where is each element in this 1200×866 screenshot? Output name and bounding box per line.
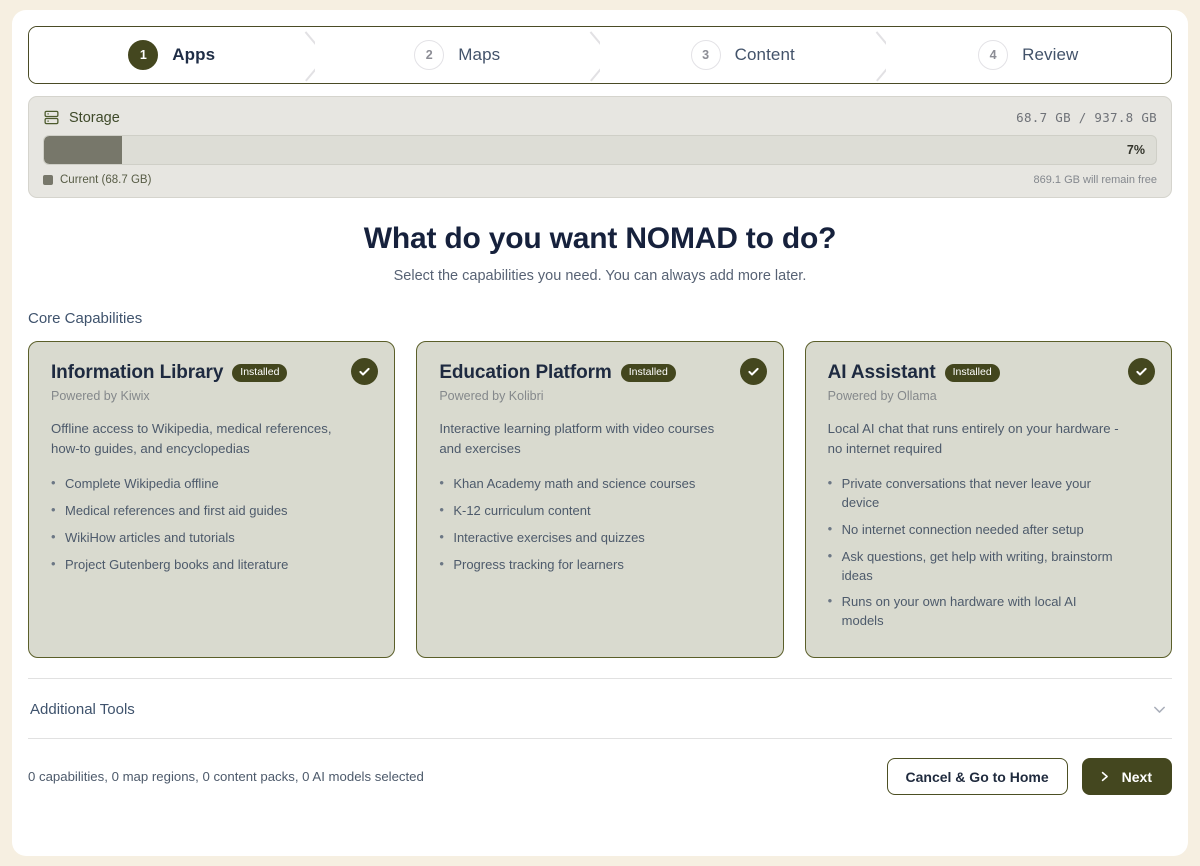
card-powered-by: Powered by Kiwix xyxy=(51,389,375,403)
drive-icon xyxy=(43,109,60,126)
step-label-1: Apps xyxy=(172,45,215,65)
list-item: K-12 curriculum content xyxy=(439,502,729,521)
storage-progress-bar: 7% xyxy=(43,135,1157,165)
storage-remaining-label: 869.1 GB will remain free xyxy=(1034,174,1158,186)
step-number-4: 4 xyxy=(978,40,1008,70)
page-title: What do you want NOMAD to do? xyxy=(28,222,1172,256)
list-item: Runs on your own hardware with local AI … xyxy=(828,593,1118,631)
card-powered-by: Powered by Kolibri xyxy=(439,389,763,403)
additional-tools-accordion[interactable]: Additional Tools xyxy=(28,678,1172,738)
step-number-2: 2 xyxy=(414,40,444,70)
card-feature-list: Complete Wikipedia offline Medical refer… xyxy=(51,475,375,574)
card-header: AI Assistant Installed xyxy=(828,362,1152,384)
stepper-step-maps[interactable]: 2 Maps xyxy=(315,27,601,83)
storage-header: Storage 68.7 GB / 937.8 GB xyxy=(43,109,1157,126)
card-description: Interactive learning platform with video… xyxy=(439,419,739,459)
step-number-1: 1 xyxy=(128,40,158,70)
card-header: Education Platform Installed xyxy=(439,362,763,384)
list-item: Progress tracking for learners xyxy=(439,556,729,575)
capability-card-information-library[interactable]: Information Library Installed Powered by… xyxy=(28,341,395,658)
list-item: Interactive exercises and quizzes xyxy=(439,529,729,548)
step-number-3: 3 xyxy=(691,40,721,70)
next-button[interactable]: Next xyxy=(1082,758,1172,795)
capability-card-ai-assistant[interactable]: AI Assistant Installed Powered by Ollama… xyxy=(805,341,1172,658)
storage-panel: Storage 68.7 GB / 937.8 GB 7% Current (6… xyxy=(28,96,1172,198)
list-item: Project Gutenberg books and literature xyxy=(51,556,341,575)
next-button-label: Next xyxy=(1122,769,1152,785)
storage-capacity: 68.7 GB / 937.8 GB xyxy=(1016,110,1157,125)
card-title: Information Library xyxy=(51,362,223,384)
list-item: WikiHow articles and tutorials xyxy=(51,529,341,548)
capability-card-grid: Information Library Installed Powered by… xyxy=(28,341,1172,658)
stepper-step-review[interactable]: 4 Review xyxy=(886,27,1172,83)
storage-legend: Current (68.7 GB) xyxy=(43,174,151,186)
capability-card-education-platform[interactable]: Education Platform Installed Powered by … xyxy=(416,341,783,658)
status-badge: Installed xyxy=(621,364,676,382)
card-description: Offline access to Wikipedia, medical ref… xyxy=(51,419,351,459)
step-label-3: Content xyxy=(735,45,795,65)
legend-label-current: Current (68.7 GB) xyxy=(60,174,151,186)
card-feature-list: Private conversations that never leave y… xyxy=(828,475,1152,631)
hero-section: What do you want NOMAD to do? Select the… xyxy=(28,222,1172,284)
storage-title-group: Storage xyxy=(43,109,120,126)
card-title: AI Assistant xyxy=(828,362,936,384)
status-badge: Installed xyxy=(945,364,1000,382)
selected-check-badge[interactable] xyxy=(1128,358,1155,385)
storage-label: Storage xyxy=(69,110,120,126)
step-label-2: Maps xyxy=(458,45,500,65)
storage-footer: Current (68.7 GB) 869.1 GB will remain f… xyxy=(43,174,1157,186)
check-icon xyxy=(1134,364,1149,379)
list-item: Medical references and first aid guides xyxy=(51,502,341,521)
step-label-4: Review xyxy=(1022,45,1078,65)
wizard-footer: 0 capabilities, 0 map regions, 0 content… xyxy=(28,738,1172,795)
list-item: Complete Wikipedia offline xyxy=(51,475,341,494)
check-icon xyxy=(357,364,372,379)
storage-progress-fill xyxy=(44,136,122,164)
footer-actions: Cancel & Go to Home Next xyxy=(887,758,1173,795)
page-subtitle: Select the capabilities you need. You ca… xyxy=(28,268,1172,284)
card-feature-list: Khan Academy math and science courses K-… xyxy=(439,475,763,574)
stepper-step-content[interactable]: 3 Content xyxy=(600,27,886,83)
legend-swatch-current xyxy=(43,175,53,185)
storage-percent-label: 7% xyxy=(1127,143,1145,157)
chevron-down-icon[interactable] xyxy=(1151,701,1168,718)
selected-check-badge[interactable] xyxy=(740,358,767,385)
check-icon xyxy=(746,364,761,379)
card-description: Local AI chat that runs entirely on your… xyxy=(828,419,1128,459)
list-item: No internet connection needed after setu… xyxy=(828,521,1118,540)
card-title: Education Platform xyxy=(439,362,611,384)
cancel-go-home-button[interactable]: Cancel & Go to Home xyxy=(887,758,1068,795)
selection-summary: 0 capabilities, 0 map regions, 0 content… xyxy=(28,769,424,784)
stepper-step-apps[interactable]: 1 Apps xyxy=(29,27,315,83)
card-header: Information Library Installed xyxy=(51,362,375,384)
chevron-right-icon xyxy=(1098,770,1111,783)
card-powered-by: Powered by Ollama xyxy=(828,389,1152,403)
status-badge: Installed xyxy=(232,364,287,382)
list-item: Private conversations that never leave y… xyxy=(828,475,1118,513)
list-item: Khan Academy math and science courses xyxy=(439,475,729,494)
wizard-stepper: 1 Apps 2 Maps 3 Content 4 Review xyxy=(28,26,1172,84)
additional-tools-label: Additional Tools xyxy=(30,701,135,718)
list-item: Ask questions, get help with writing, br… xyxy=(828,548,1118,586)
core-capabilities-heading: Core Capabilities xyxy=(28,310,1172,327)
wizard-window: 1 Apps 2 Maps 3 Content 4 Review xyxy=(12,10,1188,856)
